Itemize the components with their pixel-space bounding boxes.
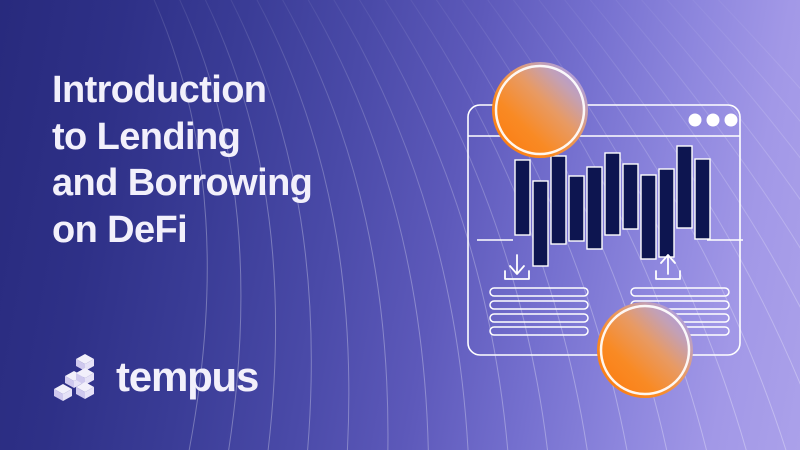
chart-bar	[695, 159, 710, 239]
placeholder-line	[631, 288, 729, 296]
brand-wordmark: tempus	[116, 356, 258, 398]
orange-circle-bottom	[597, 302, 693, 398]
chart-bar	[587, 167, 602, 249]
chart-bars	[515, 146, 710, 266]
defi-dashboard-illustration	[455, 45, 765, 415]
chart-bar	[533, 181, 548, 266]
placeholder-line	[490, 314, 588, 322]
window-dot-1	[689, 114, 702, 127]
download-placeholder-lines	[490, 288, 588, 335]
chart-bar	[551, 156, 566, 244]
orange-circle-top	[492, 62, 588, 158]
brand-logo[interactable]: tempus	[52, 352, 258, 402]
chart-bar	[641, 175, 656, 259]
banner-root: Introduction to Lending and Borrowing on…	[0, 0, 800, 450]
placeholder-line	[490, 288, 588, 296]
tempus-blocks-icon	[52, 352, 98, 402]
chart-bar	[623, 164, 638, 229]
placeholder-line	[490, 327, 588, 335]
chart-bar	[605, 153, 620, 235]
banner-title: Introduction to Lending and Borrowing on…	[52, 67, 452, 252]
chart-bar	[677, 146, 692, 228]
chart-bar	[569, 176, 584, 241]
chart-bar	[659, 169, 674, 257]
window-dot-2	[707, 114, 720, 127]
download-panel	[490, 255, 588, 335]
download-icon	[505, 255, 529, 279]
placeholder-line	[490, 301, 588, 309]
upload-icon	[656, 255, 680, 279]
chart-bar	[515, 160, 530, 235]
window-dot-3	[725, 114, 738, 127]
